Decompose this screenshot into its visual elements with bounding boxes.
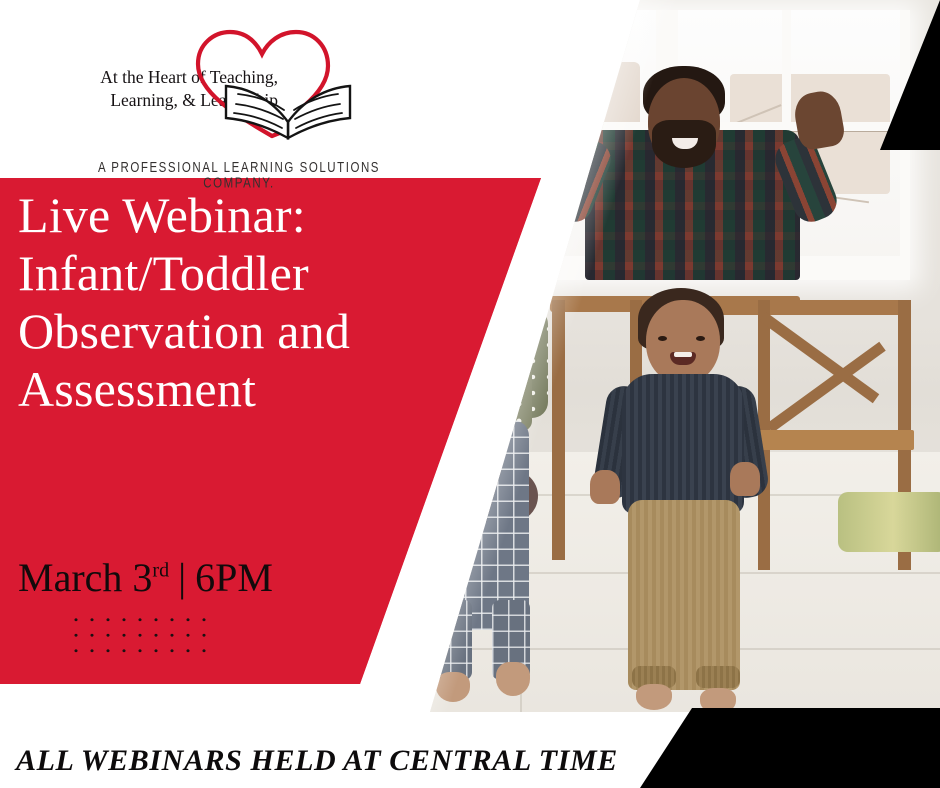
company-logo: At the Heart of Teaching, Learning, & Le… [88,22,388,162]
toddler2-foot [636,684,672,710]
black-parallelogram-bottom-right [640,708,940,788]
toddler2-eye [658,336,667,341]
chair-stile [552,300,565,560]
page-title: Live Webinar: Infant/Toddler Observation… [18,186,448,418]
chair-seat [756,430,914,450]
toddler2-eye [696,336,705,341]
webinar-promo-poster: At the Heart of Teaching, Learning, & Le… [0,0,940,788]
title-line-1: Live Webinar: [18,186,448,244]
heart-and-open-book-logo-icon [176,18,376,142]
datetime-separator: | [169,558,195,598]
title-line-3: Observation and [18,302,448,360]
toddler1-foot [496,662,530,696]
floor-rug [838,492,940,552]
toddler1-plaid-pants [433,420,529,630]
event-datetime: March 3rd|6PM [18,558,273,598]
toddler2-navy-sweater [622,374,744,514]
toddler2-hand [730,462,760,496]
window-mullion [540,10,549,280]
title-line-2: Infant/Toddler [18,244,448,302]
event-time: 6PM [195,555,273,600]
toddler2-hand [590,470,620,504]
adult-left-hand-raised [541,92,596,155]
chair-top-rail-2 [700,300,910,315]
toddler2-face [646,300,720,384]
title-line-4: Assessment [18,360,448,418]
toddler1-foot [436,672,470,702]
toddler2-corduroy-pants [628,500,740,690]
dot-grid-pattern [68,612,212,658]
event-date: March 3 [18,555,152,600]
date-ordinal-suffix: rd [152,560,169,582]
toddler1-leg [434,600,472,680]
toddler2-tooth [674,352,692,357]
timezone-note: ALL WEBINARS HELD AT CENTRAL TIME [16,744,618,778]
family-photo [400,0,940,712]
toddler2-pant-cuff [696,666,740,688]
